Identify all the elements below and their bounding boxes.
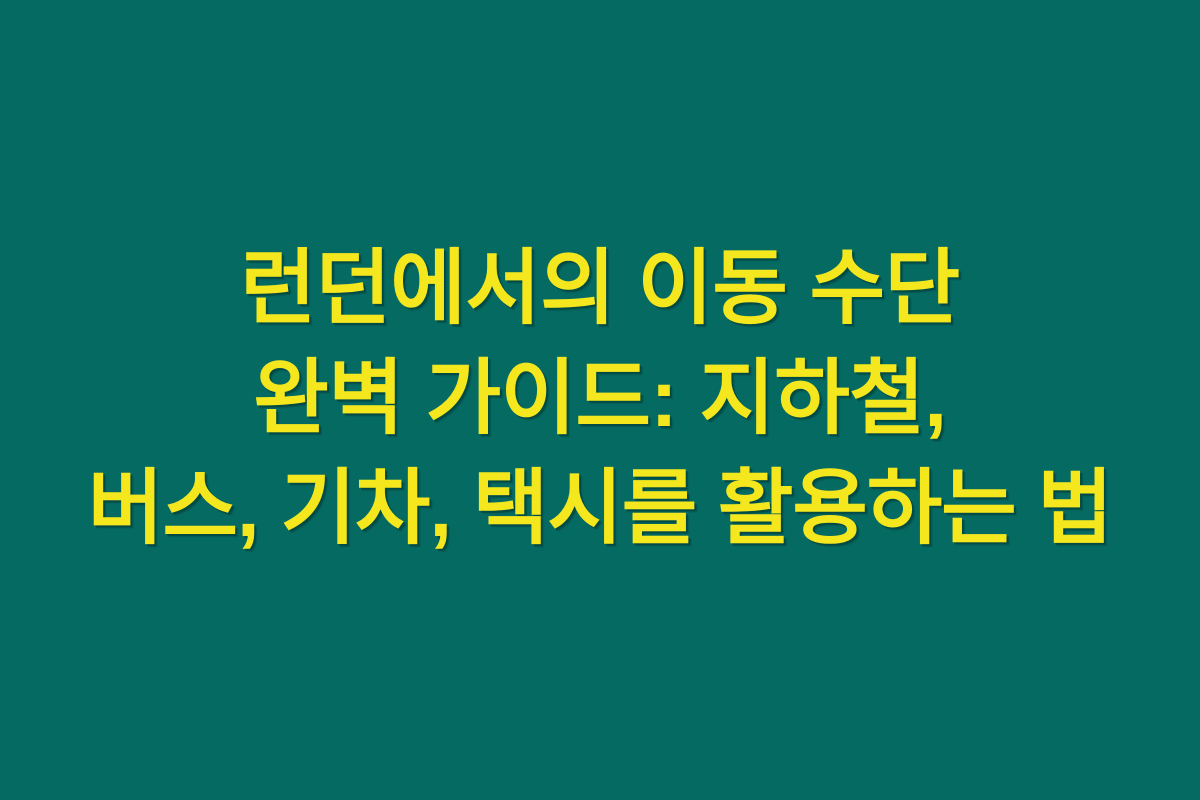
title-line-2: 완벽 가이드: 지하철, [253,344,946,454]
poster-canvas: 런던에서의 이동 수단 완벽 가이드: 지하철, 버스, 기차, 택시를 활용하… [0,0,1200,800]
title-line-1: 런던에서의 이동 수단 [240,234,959,344]
title-line-3: 버스, 기차, 택시를 활용하는 법 [88,454,1112,564]
poster-title-block: 런던에서의 이동 수단 완벽 가이드: 지하철, 버스, 기차, 택시를 활용하… [0,234,1200,564]
